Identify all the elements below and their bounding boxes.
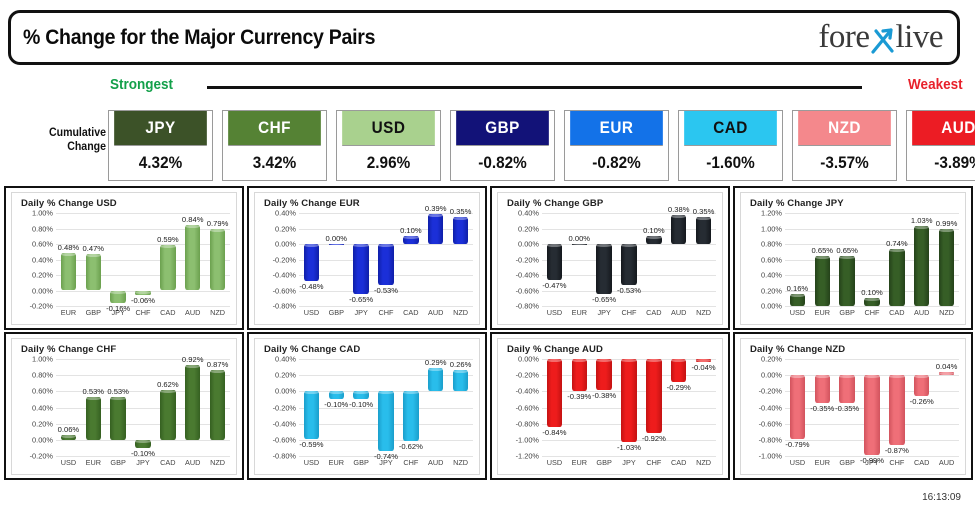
x-tick-label: EUR <box>572 458 587 467</box>
chart-panel-nzd: Daily % Change NZD0.20%0.00%-0.20%-0.40%… <box>733 332 973 480</box>
bar <box>572 244 587 245</box>
bar <box>572 359 587 391</box>
x-tick-label: CHF <box>403 458 418 467</box>
y-tick-label: -0.40% <box>273 419 296 428</box>
bar <box>304 244 319 281</box>
bar <box>378 244 393 285</box>
y-tick-label: 0.80% <box>32 224 53 233</box>
y-tick-label: 0.40% <box>275 355 296 364</box>
data-label: -0.10% <box>131 449 155 458</box>
chart-inner: Daily % Change EUR0.40%0.20%0.00%-0.20%-… <box>254 192 480 325</box>
strength-scale: Strongest Weakest <box>0 76 975 98</box>
data-label: 0.79% <box>207 219 229 228</box>
y-tick-label: 0.80% <box>32 371 53 380</box>
y-tick-label: 0.40% <box>32 403 53 412</box>
bar-cap <box>839 256 854 259</box>
data-label: 0.10% <box>861 288 883 297</box>
data-label: -0.92% <box>642 434 666 443</box>
y-axis: 0.40%0.20%0.00%-0.20%-0.40%-0.60%-0.80% <box>258 213 298 306</box>
data-label: 0.00% <box>326 234 348 243</box>
bar-cap <box>428 368 443 371</box>
data-label: -0.10% <box>324 400 348 409</box>
bar-cap <box>403 391 418 394</box>
gridline <box>299 229 473 230</box>
x-tick-label: GBP <box>839 308 854 317</box>
chart-plot: 0.20%0.00%-0.20%-0.40%-0.60%-0.80%-1.00%… <box>741 359 965 474</box>
bar-cap <box>889 249 904 252</box>
chart-plot: 0.40%0.20%0.00%-0.20%-0.40%-0.60%-0.80%-… <box>498 213 722 324</box>
x-tick-label: USD <box>61 458 76 467</box>
data-label: 1.03% <box>911 216 933 225</box>
bar-cap <box>939 372 954 375</box>
data-label: -0.35% <box>810 404 834 413</box>
chart-title: Daily % Change USD <box>21 198 117 209</box>
data-label: -0.79% <box>785 440 809 449</box>
bar <box>403 236 418 244</box>
bar <box>596 359 611 390</box>
y-tick-label: 0.40% <box>761 271 782 280</box>
y-tick-label: 0.20% <box>32 271 53 280</box>
bar-cap <box>304 244 319 247</box>
chart-plot: 0.00%-0.20%-0.40%-0.60%-0.80%-1.00%-1.20… <box>498 359 722 474</box>
bar <box>889 249 904 306</box>
bar <box>353 244 368 294</box>
chart-inner: Daily % Change CHF1.00%0.80%0.60%0.40%0.… <box>11 338 237 475</box>
chart-grid: Daily % Change USD1.00%0.80%0.60%0.40%0.… <box>4 186 970 486</box>
cumulative-change-label: Cumulative Change <box>21 126 106 154</box>
forexlive-logo: forelive <box>818 21 943 54</box>
x-tick-label: USD <box>547 308 562 317</box>
bar <box>304 391 319 439</box>
data-label: 0.53% <box>83 387 105 396</box>
chart-inner: Daily % Change NZD0.20%0.00%-0.20%-0.40%… <box>740 338 966 475</box>
logo-x-arrow-icon <box>870 23 896 53</box>
x-axis-labels: EURGBPJPYCHFCADAUDNZD <box>56 308 230 322</box>
y-tick-label: 0.60% <box>761 255 782 264</box>
x-tick-label: USD <box>547 458 562 467</box>
chart-panel-cad: Daily % Change CAD0.40%0.20%0.00%-0.20%-… <box>247 332 487 480</box>
x-tick-label: CAD <box>914 458 929 467</box>
bar-cap <box>61 435 76 438</box>
x-tick-label: AUD <box>185 458 200 467</box>
bar <box>889 375 904 445</box>
x-tick-label: CAD <box>403 308 418 317</box>
bar-cap <box>353 391 368 394</box>
bar-cap <box>135 291 150 294</box>
currency-change-value: 3.42% <box>228 145 321 180</box>
chart-plot: 0.40%0.20%0.00%-0.20%-0.40%-0.60%-0.80%-… <box>255 359 479 474</box>
x-tick-label: GBP <box>110 458 125 467</box>
bar <box>914 375 929 396</box>
x-tick-label: CHF <box>136 308 151 317</box>
data-label: -0.47% <box>542 281 566 290</box>
currency-code: NZD <box>798 111 891 145</box>
chart-inner: Daily % Change JPY1.20%1.00%0.80%0.60%0.… <box>740 192 966 325</box>
x-axis-labels: USDEURGBPCHFCADAUDNZD <box>785 308 959 322</box>
data-label: -0.53% <box>617 286 641 295</box>
y-tick-label: -0.40% <box>759 403 782 412</box>
data-label: 0.59% <box>157 235 179 244</box>
data-label: -0.53% <box>374 286 398 295</box>
y-tick-label: 0.40% <box>32 255 53 264</box>
chart-title: Daily % Change CHF <box>21 344 116 355</box>
x-tick-label: GBP <box>86 308 101 317</box>
y-tick-label: -0.60% <box>516 286 539 295</box>
x-tick-label: CHF <box>379 308 394 317</box>
bar-cap <box>790 375 805 378</box>
gridline <box>542 456 716 457</box>
y-axis: 0.40%0.20%0.00%-0.20%-0.40%-0.60%-0.80% <box>258 359 298 456</box>
data-label: -0.10% <box>349 400 373 409</box>
y-axis: 1.00%0.80%0.60%0.40%0.20%0.00%-0.20% <box>15 213 55 306</box>
y-tick-label: 0.00% <box>518 355 539 364</box>
data-label: -0.59% <box>299 440 323 449</box>
bar-cap <box>790 294 805 297</box>
bar-cap <box>621 244 636 247</box>
bar-cap <box>304 391 319 394</box>
plot-area: -0.59%-0.10%-0.10%-0.74%-0.62%0.29%0.26% <box>299 359 473 456</box>
x-tick-label: EUR <box>86 458 101 467</box>
y-tick-label: -0.20% <box>759 387 782 396</box>
x-tick-label: JPY <box>865 458 878 467</box>
data-label: -0.39% <box>567 392 591 401</box>
x-axis-labels: USDEURGBPJPYCHFAUDNZD <box>299 458 473 472</box>
chart-panel-aud: Daily % Change AUD0.00%-0.20%-0.40%-0.60… <box>490 332 730 480</box>
bar <box>914 226 929 306</box>
bar-cap <box>815 256 830 259</box>
y-tick-label: 0.00% <box>32 435 53 444</box>
bar-cap <box>671 215 686 218</box>
bar <box>939 229 954 306</box>
chart-plot: 1.00%0.80%0.60%0.40%0.20%0.00%-0.20%0.48… <box>12 213 236 324</box>
y-tick-label: 0.00% <box>275 387 296 396</box>
bar-cap <box>646 359 661 362</box>
bar <box>61 253 76 290</box>
data-label: -0.35% <box>835 404 859 413</box>
x-tick-label: EUR <box>572 308 587 317</box>
y-tick-label: 0.20% <box>761 286 782 295</box>
bar <box>61 435 76 440</box>
bar-cap <box>671 359 686 362</box>
y-axis: 1.00%0.80%0.60%0.40%0.20%0.00%-0.20% <box>15 359 55 456</box>
chart-title: Daily % Change AUD <box>507 344 603 355</box>
gridline <box>56 213 230 214</box>
currency-code: CAD <box>684 111 777 145</box>
x-tick-label: GBP <box>353 458 368 467</box>
y-tick-label: 0.20% <box>275 224 296 233</box>
chart-inner: Daily % Change AUD0.00%-0.20%-0.40%-0.60… <box>497 338 723 475</box>
bar-cap <box>864 298 879 301</box>
data-label: 0.87% <box>207 360 229 369</box>
bar-cap <box>696 359 711 362</box>
data-label: 0.39% <box>425 204 447 213</box>
y-tick-label: -0.80% <box>273 302 296 311</box>
strength-scale-line <box>207 86 862 89</box>
bar-cap <box>185 365 200 368</box>
data-label: -1.03% <box>617 443 641 452</box>
bar <box>864 375 879 455</box>
gridline <box>299 375 473 376</box>
y-tick-label: -0.40% <box>516 387 539 396</box>
bar <box>403 391 418 441</box>
cumulative-card-aud: AUD-3.89% <box>906 110 975 181</box>
bar-cap <box>210 229 225 232</box>
y-tick-label: 0.00% <box>761 302 782 311</box>
x-tick-label: USD <box>304 458 319 467</box>
x-tick-label: CAD <box>671 458 686 467</box>
x-tick-label: AUD <box>428 308 443 317</box>
bar <box>547 244 562 280</box>
bar-cap <box>839 375 854 378</box>
y-axis: 1.20%1.00%0.80%0.60%0.40%0.20%0.00% <box>744 213 784 306</box>
data-label: 0.29% <box>425 358 447 367</box>
bar-cap <box>939 229 954 232</box>
data-label: 0.35% <box>450 207 472 216</box>
bar <box>185 225 200 290</box>
y-tick-label: 0.00% <box>32 286 53 295</box>
data-label: 0.62% <box>157 380 179 389</box>
bar <box>185 365 200 439</box>
chart-plot: 0.40%0.20%0.00%-0.20%-0.40%-0.60%-0.80%-… <box>255 213 479 324</box>
data-label: 0.84% <box>182 215 204 224</box>
bar <box>939 372 954 375</box>
gridline <box>56 260 230 261</box>
currency-code: JPY <box>114 111 207 145</box>
data-label: 0.92% <box>182 355 204 364</box>
gridline <box>785 306 959 307</box>
y-tick-label: 0.20% <box>275 371 296 380</box>
bar-cap <box>621 359 636 362</box>
gridline <box>56 229 230 230</box>
bar <box>86 397 101 440</box>
x-tick-label: EUR <box>61 308 76 317</box>
y-tick-label: 0.40% <box>518 209 539 218</box>
gridline <box>56 424 230 425</box>
currency-code: AUD <box>912 111 975 145</box>
data-label: 0.65% <box>836 246 858 255</box>
bar <box>428 368 443 391</box>
bar-cap <box>378 244 393 247</box>
data-label: -0.06% <box>131 296 155 305</box>
x-axis-labels: USDEURGBPJPYCADAUDNZD <box>56 458 230 472</box>
y-tick-label: -0.40% <box>273 271 296 280</box>
x-tick-label: EUR <box>329 458 344 467</box>
chart-panel-chf: Daily % Change CHF1.00%0.80%0.60%0.40%0.… <box>4 332 244 480</box>
y-tick-label: -0.60% <box>516 403 539 412</box>
bar-cap <box>160 245 175 248</box>
bar <box>329 391 344 399</box>
x-tick-label: EUR <box>815 308 830 317</box>
bar <box>135 440 150 448</box>
cumulative-card-gbp: GBP-0.82% <box>450 110 555 181</box>
plot-area: -0.79%-0.35%-0.35%-0.99%-0.87%-0.26%0.04… <box>785 359 959 456</box>
y-tick-label: -0.80% <box>759 435 782 444</box>
bar-cap <box>210 370 225 373</box>
cumulative-card-cad: CAD-1.60% <box>678 110 783 181</box>
timestamp: 16:13:09 <box>922 492 961 503</box>
weakest-label: Weakest <box>908 76 963 93</box>
bar-cap <box>110 397 125 400</box>
x-tick-label: CHF <box>889 458 904 467</box>
x-tick-label: NZD <box>210 308 225 317</box>
bar-cap <box>646 236 661 239</box>
bar-cap <box>86 254 101 257</box>
y-tick-label: 0.00% <box>518 240 539 249</box>
x-tick-label: AUD <box>185 308 200 317</box>
y-tick-label: -0.80% <box>516 419 539 428</box>
y-tick-label: -0.20% <box>273 255 296 264</box>
y-tick-label: 0.40% <box>275 209 296 218</box>
y-tick-label: 0.20% <box>518 224 539 233</box>
bar <box>453 370 468 391</box>
currency-change-value: -3.89% <box>912 145 975 180</box>
x-tick-label: CAD <box>889 308 904 317</box>
chart-title: Daily % Change JPY <box>750 198 844 209</box>
currency-code: CHF <box>228 111 321 145</box>
gridline <box>56 408 230 409</box>
x-tick-label: EUR <box>815 458 830 467</box>
gridline <box>56 306 230 307</box>
x-tick-label: USD <box>304 308 319 317</box>
y-tick-label: 1.00% <box>761 224 782 233</box>
chart-title: Daily % Change NZD <box>750 344 845 355</box>
x-tick-label: JPY <box>354 308 367 317</box>
bar-cap <box>547 359 562 362</box>
y-axis: 0.00%-0.20%-0.40%-0.60%-0.80%-1.00%-1.20… <box>501 359 541 456</box>
x-tick-label: AUD <box>428 458 443 467</box>
currency-change-value: 4.32% <box>114 145 207 180</box>
bar <box>646 236 661 244</box>
data-label: 0.16% <box>787 284 809 293</box>
data-label: 0.38% <box>668 205 690 214</box>
gridline <box>299 306 473 307</box>
bar-cap <box>864 375 879 378</box>
x-axis-labels: USDEURGBPJPYCHFCADAUD <box>785 458 959 472</box>
gridline <box>56 375 230 376</box>
bar-cap <box>353 244 368 247</box>
bar <box>547 359 562 427</box>
gridline <box>785 359 959 360</box>
x-tick-label: CHF <box>865 308 880 317</box>
chart-title: Daily % Change GBP <box>507 198 603 209</box>
data-label: -0.38% <box>592 391 616 400</box>
currency-code: EUR <box>570 111 663 145</box>
x-tick-label: NZD <box>453 458 468 467</box>
header-bar: % Change for the Major Currency Pairs fo… <box>8 10 960 65</box>
bar <box>671 215 686 244</box>
bar-cap <box>61 253 76 256</box>
x-tick-label: JPY <box>136 458 149 467</box>
bar <box>790 375 805 439</box>
bar <box>839 256 854 306</box>
bar <box>671 359 686 382</box>
y-tick-label: 1.20% <box>761 209 782 218</box>
y-tick-label: -0.20% <box>30 452 53 461</box>
data-label: -0.65% <box>592 295 616 304</box>
data-label: 0.53% <box>107 387 129 396</box>
data-label: 0.65% <box>812 246 834 255</box>
bar-cap <box>453 370 468 373</box>
data-label: 0.06% <box>58 425 80 434</box>
y-tick-label: -0.80% <box>273 452 296 461</box>
data-label: -0.65% <box>349 295 373 304</box>
bar-cap <box>453 217 468 220</box>
currency-change-value: -0.82% <box>570 145 663 180</box>
y-axis: 0.20%0.00%-0.20%-0.40%-0.60%-0.80%-1.00% <box>744 359 784 456</box>
bar <box>790 294 805 306</box>
x-tick-label: AUD <box>939 458 954 467</box>
bar-cap <box>329 244 344 247</box>
chart-inner: Daily % Change USD1.00%0.80%0.60%0.40%0.… <box>11 192 237 325</box>
cumulative-change-row: Cumulative Change JPY4.32%CHF3.42%USD2.9… <box>0 110 975 180</box>
cumulative-card-list: JPY4.32%CHF3.42%USD2.96%GBP-0.82%EUR-0.8… <box>108 110 975 181</box>
x-tick-label: GBP <box>329 308 344 317</box>
bar-cap <box>428 214 443 217</box>
plot-area: 0.48%0.47%-0.16%-0.06%0.59%0.84%0.79% <box>56 213 230 306</box>
cumulative-card-jpy: JPY4.32% <box>108 110 213 181</box>
strongest-label: Strongest <box>110 76 173 93</box>
logo-text-after: live <box>896 21 943 54</box>
x-tick-label: NZD <box>696 308 711 317</box>
bar <box>160 390 175 440</box>
y-axis: 0.40%0.20%0.00%-0.20%-0.40%-0.60%-0.80% <box>501 213 541 306</box>
plot-area: -0.48%0.00%-0.65%-0.53%0.10%0.39%0.35% <box>299 213 473 306</box>
bar <box>329 244 344 245</box>
y-tick-label: 0.60% <box>32 387 53 396</box>
data-label: 0.74% <box>886 239 908 248</box>
currency-change-value: 2.96% <box>342 145 435 180</box>
chart-panel-gbp: Daily % Change GBP0.40%0.20%0.00%-0.20%-… <box>490 186 730 330</box>
bar <box>378 391 393 451</box>
bar-cap <box>572 359 587 362</box>
bar-cap <box>185 225 200 228</box>
bar <box>621 244 636 285</box>
x-tick-label: CHF <box>622 308 637 317</box>
y-tick-label: 1.00% <box>32 209 53 218</box>
plot-area: -0.47%0.00%-0.65%-0.53%0.10%0.38%0.35% <box>542 213 716 306</box>
bar-cap <box>596 359 611 362</box>
data-label: 0.47% <box>83 244 105 253</box>
cumulative-card-usd: USD2.96% <box>336 110 441 181</box>
gridline <box>56 275 230 276</box>
bar <box>453 217 468 244</box>
chart-panel-usd: Daily % Change USD1.00%0.80%0.60%0.40%0.… <box>4 186 244 330</box>
cumulative-card-eur: EUR-0.82% <box>564 110 669 181</box>
bar <box>86 254 101 290</box>
x-tick-label: JPY <box>111 308 124 317</box>
x-tick-label: GBP <box>596 458 611 467</box>
currency-change-value: -3.57% <box>798 145 891 180</box>
x-axis-labels: USDEURGBPJPYCHFCADNZD <box>542 458 716 472</box>
bar <box>815 256 830 306</box>
bar-cap <box>403 236 418 239</box>
bar-cap <box>547 244 562 247</box>
bar-cap <box>572 244 587 247</box>
chart-panel-jpy: Daily % Change JPY1.20%1.00%0.80%0.60%0.… <box>733 186 973 330</box>
x-tick-label: NZD <box>696 458 711 467</box>
bar <box>135 291 150 296</box>
x-tick-label: USD <box>790 308 805 317</box>
bar <box>815 375 830 403</box>
plot-area: -0.84%-0.39%-0.38%-1.03%-0.92%-0.29%-0.0… <box>542 359 716 456</box>
gridline <box>785 275 959 276</box>
x-tick-label: NZD <box>210 458 225 467</box>
y-tick-label: 0.00% <box>275 240 296 249</box>
x-axis-labels: USDEURJPYCHFCADAUDNZD <box>542 308 716 322</box>
bar <box>696 217 711 244</box>
bar <box>160 245 175 291</box>
data-label: -0.84% <box>542 428 566 437</box>
